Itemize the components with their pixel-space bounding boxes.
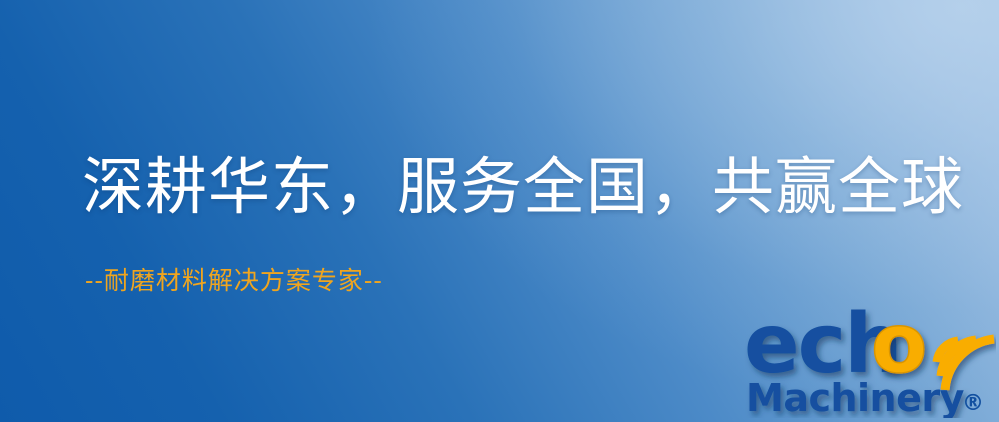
logo-svg: ech o Machinery ® [744,296,996,418]
hero-banner: 深耕华东，服务全国，共赢全球 --耐磨材料解决方案专家-- ech o [0,0,999,422]
registered-trademark-icon: ® [962,391,984,416]
banner-headline: 深耕华东，服务全国，共赢全球 [82,148,964,226]
echo-machinery-logo: ech o Machinery ® [744,296,996,418]
logo-tagline: Machinery [746,376,965,418]
banner-subtitle: --耐磨材料解决方案专家-- [85,264,383,298]
